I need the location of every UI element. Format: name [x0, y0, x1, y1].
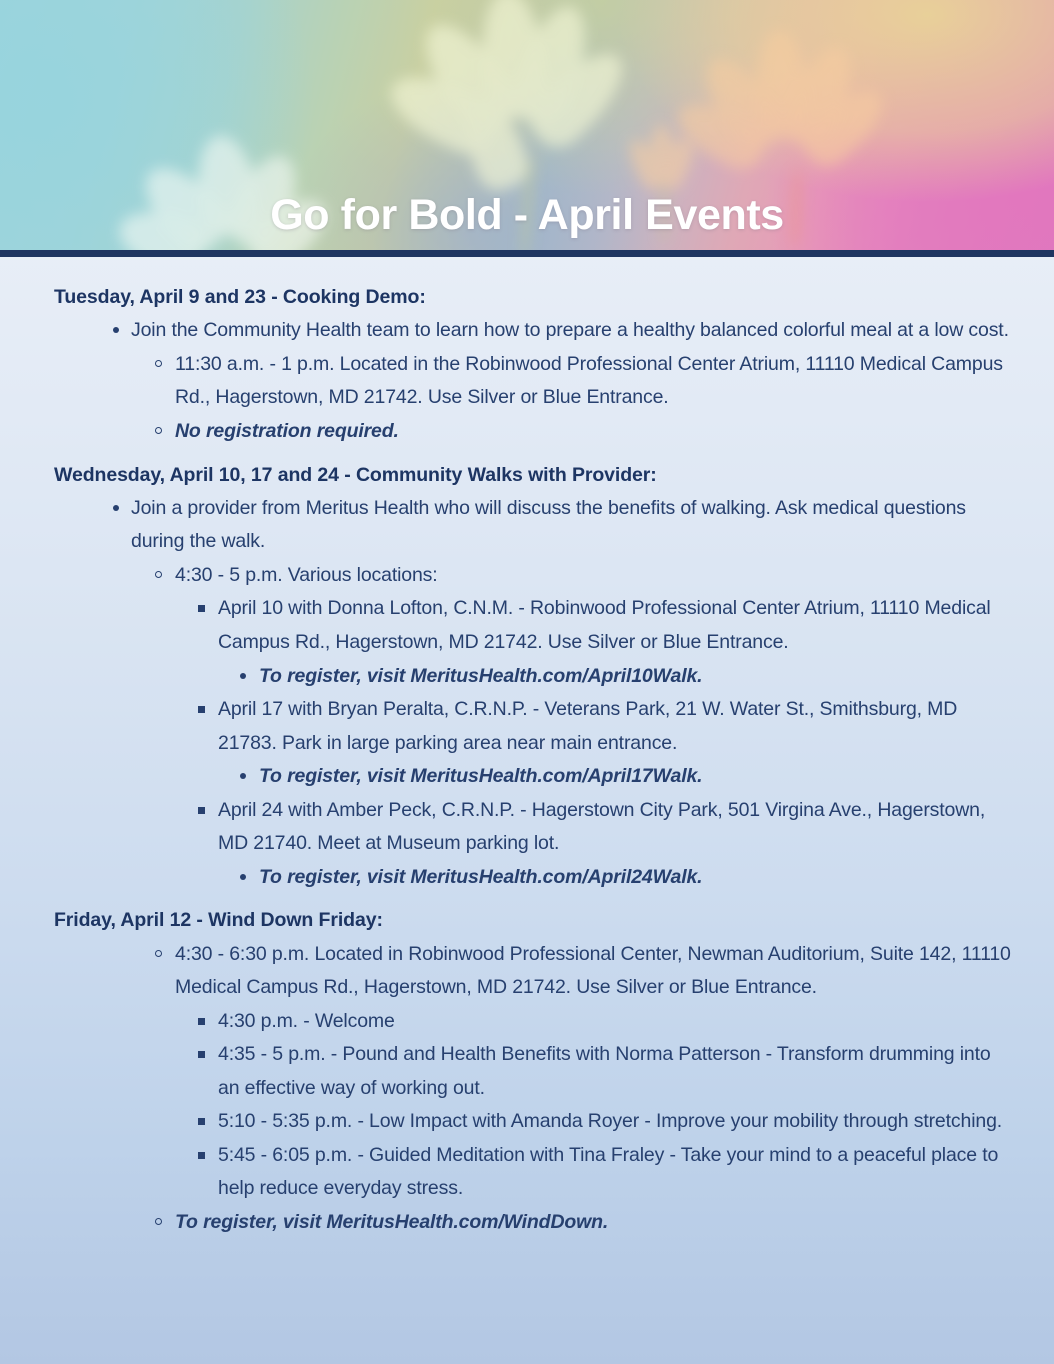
event-detail-list: Join the Community Health team to learn …: [40, 314, 1014, 448]
page-title: Go for Bold - April Events: [0, 194, 1054, 237]
list-item-text: 5:45 - 6:05 p.m. - Guided Meditation wit…: [218, 1144, 998, 1200]
list-item-text: To register, visit MeritusHealth.com/Apr…: [259, 866, 702, 888]
bullet-disc-icon: [113, 505, 119, 511]
list-item-text: No registration required.: [175, 420, 399, 442]
event-heading: Tuesday, April 9 and 23 - Cooking Demo:: [54, 285, 1014, 309]
event-heading: Wednesday, April 10, 17 and 24 - Communi…: [54, 463, 1014, 487]
list-item-text: 4:30 p.m. - Welcome: [218, 1010, 395, 1032]
list-item: 4:35 - 5 p.m. - Pound and Health Benefit…: [40, 1038, 1014, 1105]
bullet-disc-icon: [240, 773, 246, 779]
list-item: No registration required.: [40, 415, 1014, 449]
bullet-square-icon: [198, 706, 205, 713]
event-block-cooking-demo: Tuesday, April 9 and 23 - Cooking Demo: …: [40, 285, 1014, 449]
bullet-circle-icon: [155, 360, 162, 367]
event-block-wind-down-friday: Friday, April 12 - Wind Down Friday: 4:3…: [40, 908, 1014, 1239]
list-item: 4:30 p.m. - Welcome: [40, 1005, 1014, 1039]
list-item-text: 4:30 - 5 p.m. Various locations:: [175, 564, 438, 586]
list-item-text: April 24 with Amber Peck, C.R.N.P. - Hag…: [218, 799, 985, 855]
list-item: Join a provider from Meritus Health who …: [40, 492, 1014, 559]
list-item-text: Join a provider from Meritus Health who …: [131, 497, 966, 553]
list-item-text: 4:35 - 5 p.m. - Pound and Health Benefit…: [218, 1043, 991, 1099]
list-item: April 17 with Bryan Peralta, C.R.N.P. - …: [40, 693, 1014, 760]
list-item-text: 5:10 - 5:35 p.m. - Low Impact with Amand…: [218, 1110, 1002, 1132]
bullet-circle-icon: [155, 950, 162, 957]
bullet-square-icon: [198, 1152, 205, 1159]
list-item-text: To register, visit MeritusHealth.com/Apr…: [259, 765, 702, 787]
bullet-square-icon: [198, 807, 205, 814]
list-item-text: 4:30 - 6:30 p.m. Located in Robinwood Pr…: [175, 943, 1011, 999]
list-item: April 10 with Donna Lofton, C.N.M. - Rob…: [40, 592, 1014, 659]
events-content: Tuesday, April 9 and 23 - Cooking Demo: …: [0, 257, 1054, 1239]
list-item-text: April 10 with Donna Lofton, C.N.M. - Rob…: [218, 597, 991, 653]
list-item: 4:30 - 6:30 p.m. Located in Robinwood Pr…: [40, 938, 1014, 1005]
bullet-circle-icon: [155, 1218, 162, 1225]
bullet-circle-icon: [155, 571, 162, 578]
event-detail-list: 4:30 - 6:30 p.m. Located in Robinwood Pr…: [40, 938, 1014, 1240]
list-item: 4:30 - 5 p.m. Various locations:: [40, 559, 1014, 593]
bullet-square-icon: [198, 1018, 205, 1025]
list-item: 5:45 - 6:05 p.m. - Guided Meditation wit…: [40, 1139, 1014, 1206]
event-detail-list: Join a provider from Meritus Health who …: [40, 492, 1014, 894]
list-item: 5:10 - 5:35 p.m. - Low Impact with Amand…: [40, 1105, 1014, 1139]
bullet-disc-icon: [240, 673, 246, 679]
header-divider-bar: [0, 250, 1054, 257]
bullet-square-icon: [198, 1051, 205, 1058]
list-item-register-link[interactable]: To register, visit MeritusHealth.com/Apr…: [40, 660, 1014, 694]
list-item-register-link[interactable]: To register, visit MeritusHealth.com/Win…: [40, 1206, 1014, 1240]
list-item: April 24 with Amber Peck, C.R.N.P. - Hag…: [40, 794, 1014, 861]
bullet-disc-icon: [113, 327, 119, 333]
list-item-text: 11:30 a.m. - 1 p.m. Located in the Robin…: [175, 353, 1003, 409]
list-item-text: To register, visit MeritusHealth.com/Apr…: [259, 665, 702, 687]
bullet-square-icon: [198, 1118, 205, 1125]
bullet-disc-icon: [240, 874, 246, 880]
list-item-text: Join the Community Health team to learn …: [131, 319, 1009, 341]
bullet-circle-icon: [155, 427, 162, 434]
event-heading: Friday, April 12 - Wind Down Friday:: [54, 908, 1014, 932]
event-block-community-walks: Wednesday, April 10, 17 and 24 - Communi…: [40, 463, 1014, 895]
list-item-text: To register, visit MeritusHealth.com/Win…: [175, 1211, 608, 1233]
page-banner: Go for Bold - April Events: [0, 0, 1054, 250]
list-item: Join the Community Health team to learn …: [40, 314, 1014, 348]
list-item: 11:30 a.m. - 1 p.m. Located in the Robin…: [40, 348, 1014, 415]
list-item-register-link[interactable]: To register, visit MeritusHealth.com/Apr…: [40, 861, 1014, 895]
bullet-square-icon: [198, 605, 205, 612]
list-item-register-link[interactable]: To register, visit MeritusHealth.com/Apr…: [40, 760, 1014, 794]
list-item-text: April 17 with Bryan Peralta, C.R.N.P. - …: [218, 698, 957, 754]
